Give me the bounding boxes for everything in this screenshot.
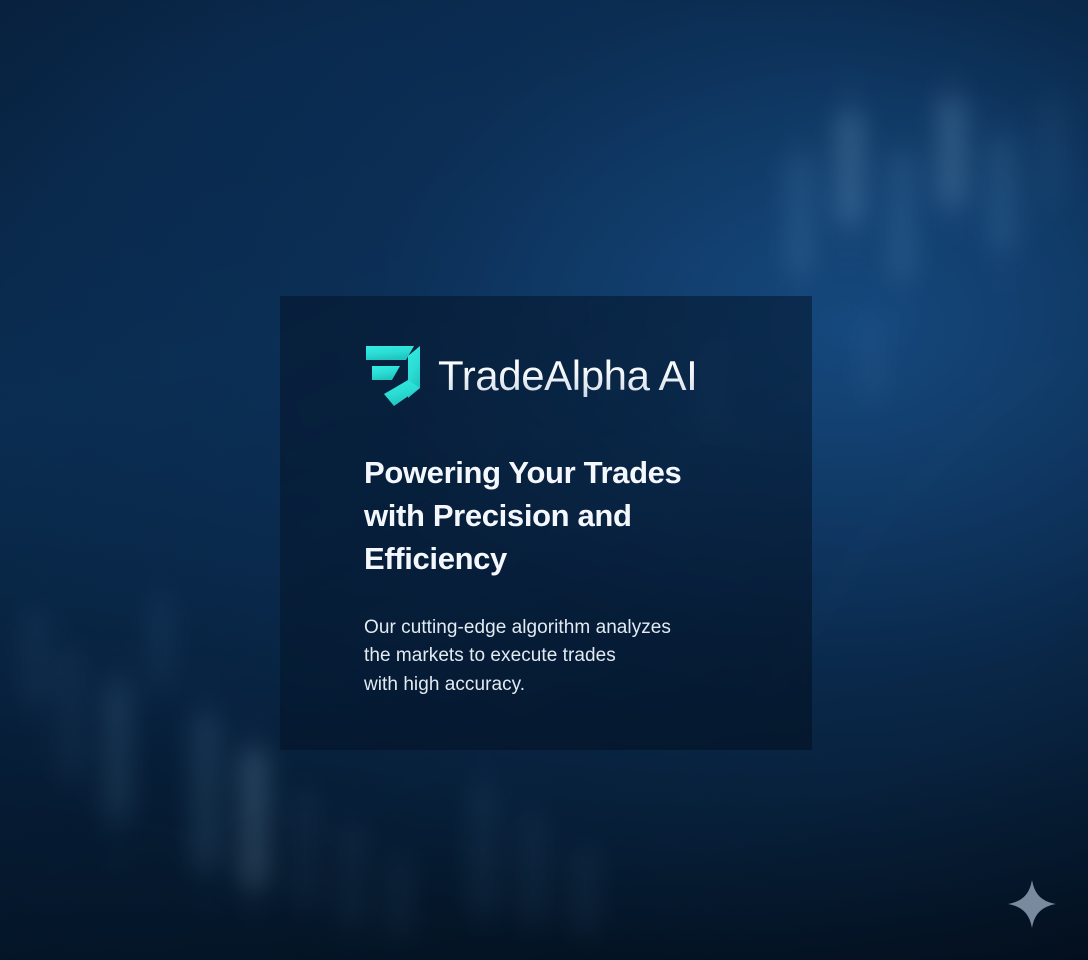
body-copy-line-3: with high accuracy. — [364, 671, 720, 699]
body-copy: Our cutting-edge algorithm analyzes the … — [364, 614, 720, 698]
brand-name: TradeAlpha AI — [438, 355, 697, 397]
slide-canvas: TradeAlpha AI Powering Your Trades with … — [0, 0, 1088, 960]
headline: Powering Your Trades with Precision and … — [364, 452, 724, 580]
body-copy-line-2: the markets to execute trades — [364, 642, 720, 670]
hero-card-content: TradeAlpha AI Powering Your Trades with … — [364, 344, 772, 699]
body-copy-line-1: Our cutting-edge algorithm analyzes — [364, 614, 720, 642]
brand-lockup: TradeAlpha AI — [364, 344, 772, 408]
sparkle-icon[interactable] — [1005, 877, 1059, 931]
tradealpha-logo-icon — [364, 344, 422, 408]
hero-card: TradeAlpha AI Powering Your Trades with … — [280, 296, 812, 750]
